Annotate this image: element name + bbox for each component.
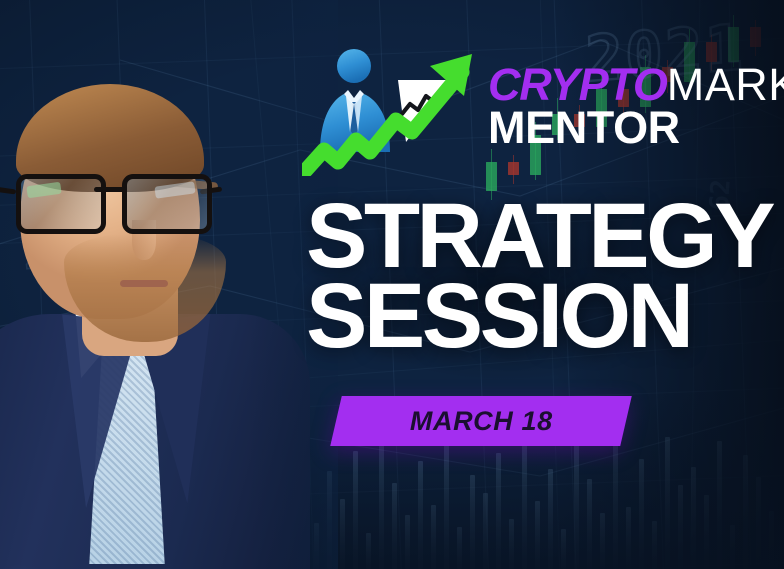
volume-bar <box>769 511 774 569</box>
promo-banner-canvas: 2021 21 62 <box>0 0 784 569</box>
volume-bar <box>535 501 540 569</box>
volume-bar <box>730 525 735 569</box>
volume-bar <box>626 507 631 569</box>
volume-bar <box>366 533 371 569</box>
glasses-lens-left <box>16 174 106 234</box>
glasses-lens-right <box>122 174 212 234</box>
glasses-bridge <box>94 187 126 192</box>
volume-bar <box>548 469 553 569</box>
volume-bar <box>600 513 605 569</box>
headline-line-2: SESSION <box>306 276 776 356</box>
volume-bar <box>743 455 748 569</box>
date-badge[interactable]: MARCH 18 <box>330 396 632 446</box>
volume-bar <box>665 437 670 569</box>
brand-logo[interactable]: CRYPTOMARKET MENTOR <box>302 44 780 176</box>
volume-bar <box>704 495 709 569</box>
volume-bar <box>483 493 488 569</box>
presenter-photo <box>0 78 316 569</box>
volume-bar <box>457 527 462 569</box>
volume-bar <box>418 461 423 569</box>
volume-bar <box>379 427 384 569</box>
volume-bar <box>327 471 332 569</box>
volume-bar <box>431 505 436 569</box>
volume-bar <box>496 453 501 569</box>
volume-bar <box>522 431 527 569</box>
glasses-temple-left <box>0 186 16 194</box>
volume-bar <box>717 441 722 569</box>
volume-bar <box>587 479 592 569</box>
volume-bar <box>639 459 644 569</box>
volume-bar <box>652 521 657 569</box>
shoulder-highlight <box>0 564 80 569</box>
volume-bar <box>678 485 683 569</box>
volume-bar <box>756 477 761 569</box>
volume-bar <box>340 499 345 569</box>
volume-bar <box>574 445 579 569</box>
logo-word-market: MARKET <box>667 59 784 110</box>
volume-bar <box>444 439 449 569</box>
volume-bar <box>470 475 475 569</box>
logo-wordmark: CRYPTOMARKET MENTOR <box>488 62 784 151</box>
eyeglasses-icon <box>10 174 212 228</box>
mouth <box>120 280 168 287</box>
page-title: STRATEGY SESSION <box>306 196 776 356</box>
logo-mark <box>302 44 494 176</box>
volume-bar <box>561 529 566 569</box>
date-badge-label: MARCH 18 <box>410 406 553 437</box>
volume-bar <box>405 515 410 569</box>
volume-bar <box>353 451 358 569</box>
volume-bar <box>509 519 514 569</box>
logo-word-mentor: MENTOR <box>488 104 784 151</box>
volume-bar <box>392 483 397 569</box>
volume-bar <box>691 467 696 569</box>
